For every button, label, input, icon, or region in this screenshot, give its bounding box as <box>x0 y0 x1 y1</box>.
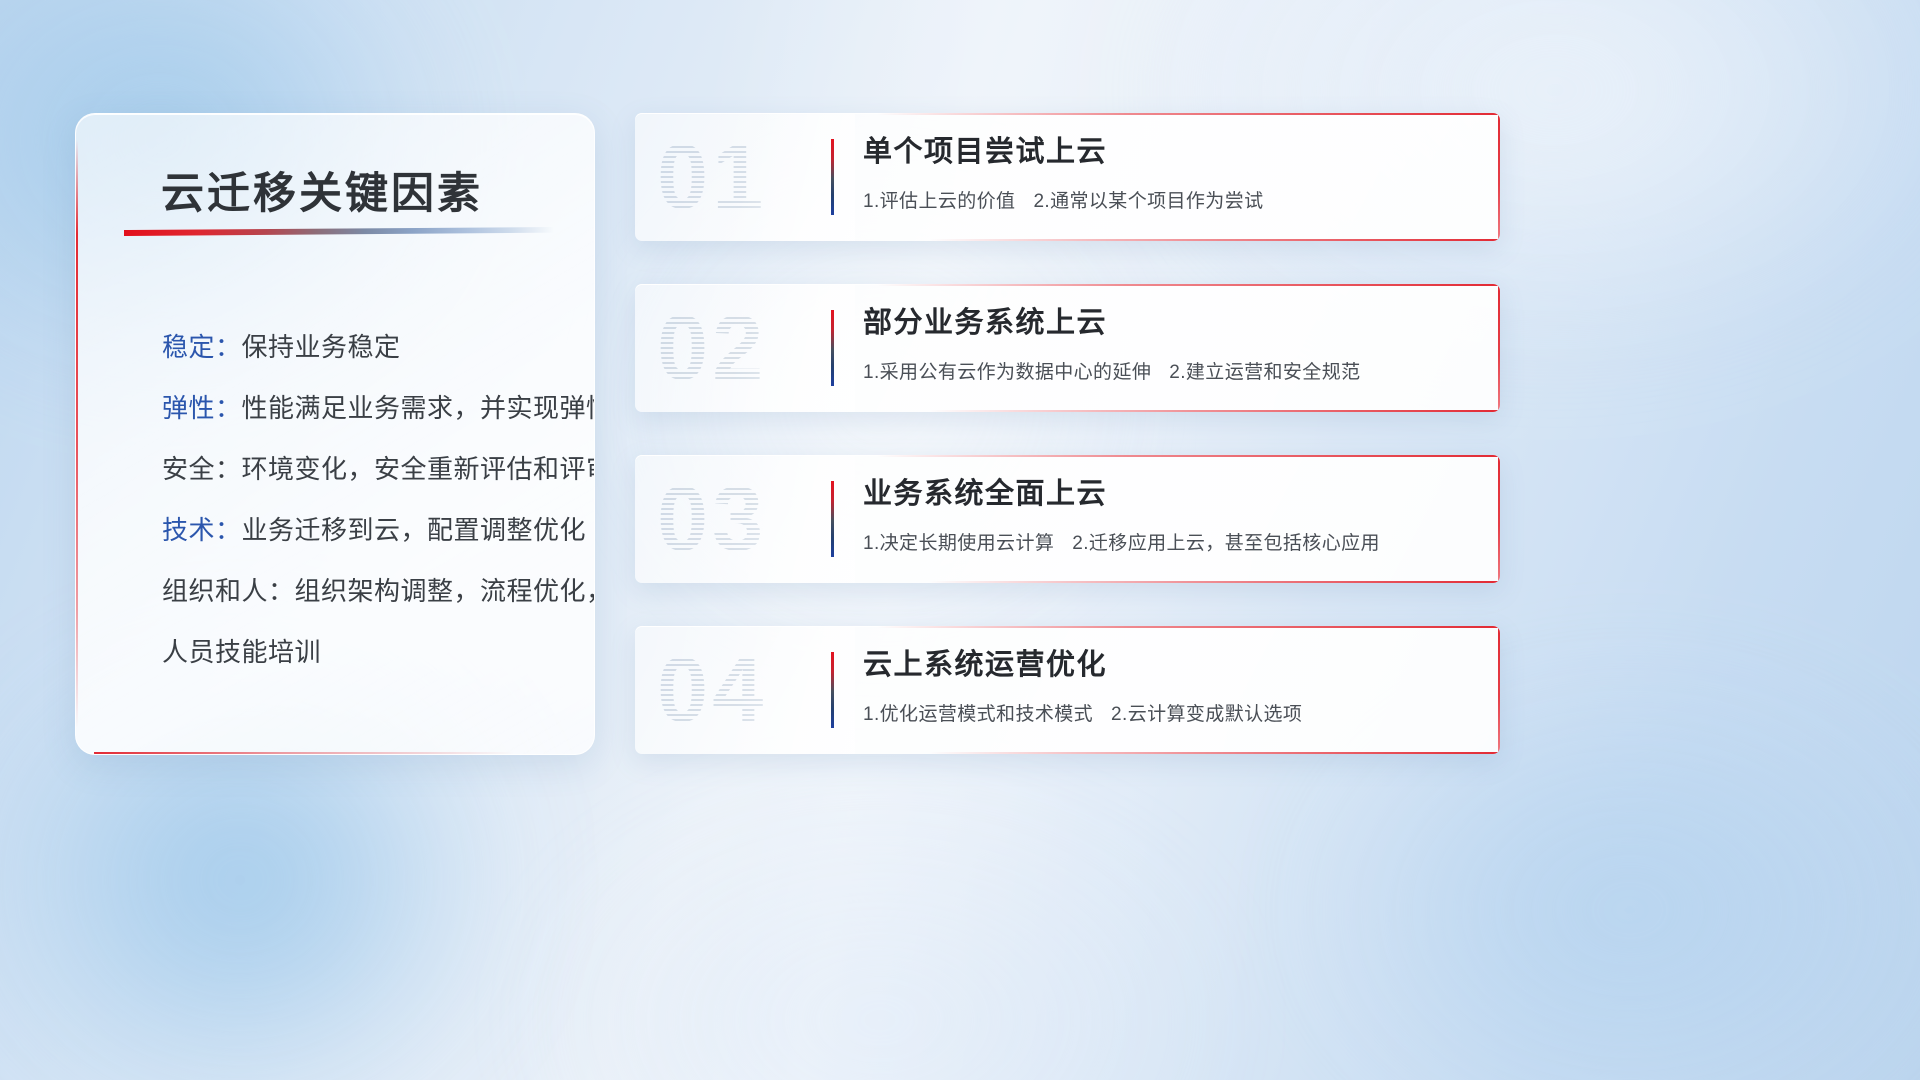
card-bottom-accent-line <box>929 752 1500 754</box>
factor-desc: 性能满足业务需求，并实现弹性 <box>242 393 595 423</box>
step-point-1: 1.决定长期使用云计算 <box>863 533 1054 554</box>
factor-item-organization-and-people-line2: 人员技能培训 <box>162 622 572 683</box>
step-point-1: 1.评估上云的价值 <box>863 191 1015 212</box>
step-number-watermark: 01 <box>657 131 767 223</box>
card-body: 业务系统全面上云 1.决定长期使用云计算2.迁移应用上云，甚至包括核心应用 <box>863 479 1470 555</box>
card-body: 部分业务系统上云 1.采用公有云作为数据中心的延伸2.建立运营和安全规范 <box>863 308 1470 384</box>
card-top-accent-line <box>877 113 1500 115</box>
factor-desc: 业务迁移到云，配置调整优化 <box>242 515 587 545</box>
step-point-1: 1.采用公有云作为数据中心的延伸 <box>863 362 1151 383</box>
step-point-2: 2.云计算变成默认选项 <box>1111 704 1302 725</box>
card-top-accent-line <box>877 284 1500 286</box>
step-point-1: 1.优化运营模式和技术模式 <box>863 704 1093 725</box>
factor-desc: 组织架构调整，流程优化， <box>295 576 595 606</box>
panel-left-accent-line <box>76 140 78 728</box>
card-divider-bar <box>831 652 834 728</box>
factor-list: 稳定：保持业务稳定 弹性：性能满足业务需求，并实现弹性 安全：环境变化，安全重新… <box>162 317 572 683</box>
migration-steps-list: 01 单个项目尝试上云 1.评估上云的价值2.通常以某个项目作为尝试 02 部分… <box>635 113 1500 754</box>
factor-label: 安全： <box>162 454 242 484</box>
page-title: 云迁移关键因素 <box>161 159 483 221</box>
factor-item-security: 安全：环境变化，安全重新评估和评审 <box>162 439 572 500</box>
card-right-accent-line <box>1498 455 1500 583</box>
card-top-accent-line <box>877 455 1500 457</box>
card-bottom-accent-line <box>929 239 1500 241</box>
card-bottom-accent-line <box>929 581 1500 583</box>
factor-desc: 环境变化，安全重新评估和评审 <box>242 454 595 484</box>
factor-desc: 保持业务稳定 <box>242 332 401 362</box>
step-card-02[interactable]: 02 部分业务系统上云 1.采用公有云作为数据中心的延伸2.建立运营和安全规范 <box>635 284 1500 412</box>
step-points: 1.优化运营模式和技术模式2.云计算变成默认选项 <box>863 699 1470 726</box>
step-points: 1.评估上云的价值2.通常以某个项目作为尝试 <box>863 186 1470 213</box>
factor-label: 稳定： <box>162 332 242 362</box>
card-right-accent-line <box>1498 626 1500 754</box>
step-number-watermark: 02 <box>657 302 767 394</box>
step-card-04[interactable]: 04 云上系统运营优化 1.优化运营模式和技术模式2.云计算变成默认选项 <box>635 626 1500 754</box>
card-right-accent-line <box>1498 113 1500 241</box>
factor-item-elasticity: 弹性：性能满足业务需求，并实现弹性 <box>162 378 572 439</box>
step-number-watermark: 03 <box>657 473 767 565</box>
factor-desc-continued: 人员技能培训 <box>162 637 321 667</box>
step-point-2: 2.通常以某个项目作为尝试 <box>1033 191 1263 212</box>
card-divider-bar <box>831 481 834 557</box>
factor-label: 技术： <box>162 515 242 545</box>
step-title: 单个项目尝试上云 <box>863 137 1470 169</box>
step-card-01[interactable]: 01 单个项目尝试上云 1.评估上云的价值2.通常以某个项目作为尝试 <box>635 113 1500 241</box>
card-body: 云上系统运营优化 1.优化运营模式和技术模式2.云计算变成默认选项 <box>863 650 1470 726</box>
factor-item-technology: 技术：业务迁移到云，配置调整优化 <box>162 500 572 561</box>
step-point-2: 2.建立运营和安全规范 <box>1169 362 1360 383</box>
factor-label: 弹性： <box>162 393 242 423</box>
factor-label: 组织和人： <box>162 576 295 606</box>
title-underline-rule <box>124 227 554 236</box>
step-title: 部分业务系统上云 <box>863 308 1470 340</box>
factor-item-organization-and-people: 组织和人：组织架构调整，流程优化， <box>162 561 572 622</box>
card-top-accent-line <box>877 626 1500 628</box>
card-divider-bar <box>831 310 834 386</box>
step-title: 业务系统全面上云 <box>863 479 1470 511</box>
factor-item-stability: 稳定：保持业务稳定 <box>162 317 572 378</box>
step-card-03[interactable]: 03 业务系统全面上云 1.决定长期使用云计算2.迁移应用上云，甚至包括核心应用 <box>635 455 1500 583</box>
step-points: 1.采用公有云作为数据中心的延伸2.建立运营和安全规范 <box>863 357 1470 384</box>
key-factors-panel: 云迁移关键因素 稳定：保持业务稳定 弹性：性能满足业务需求，并实现弹性 安全：环… <box>75 113 595 755</box>
card-right-accent-line <box>1498 284 1500 412</box>
step-title: 云上系统运营优化 <box>863 650 1470 682</box>
card-divider-bar <box>831 139 834 215</box>
step-points: 1.决定长期使用云计算2.迁移应用上云，甚至包括核心应用 <box>863 528 1470 555</box>
panel-bottom-accent-line <box>94 752 514 754</box>
step-number-watermark: 04 <box>657 644 767 736</box>
card-bottom-accent-line <box>929 410 1500 412</box>
card-body: 单个项目尝试上云 1.评估上云的价值2.通常以某个项目作为尝试 <box>863 137 1470 213</box>
step-point-2: 2.迁移应用上云，甚至包括核心应用 <box>1072 533 1380 554</box>
